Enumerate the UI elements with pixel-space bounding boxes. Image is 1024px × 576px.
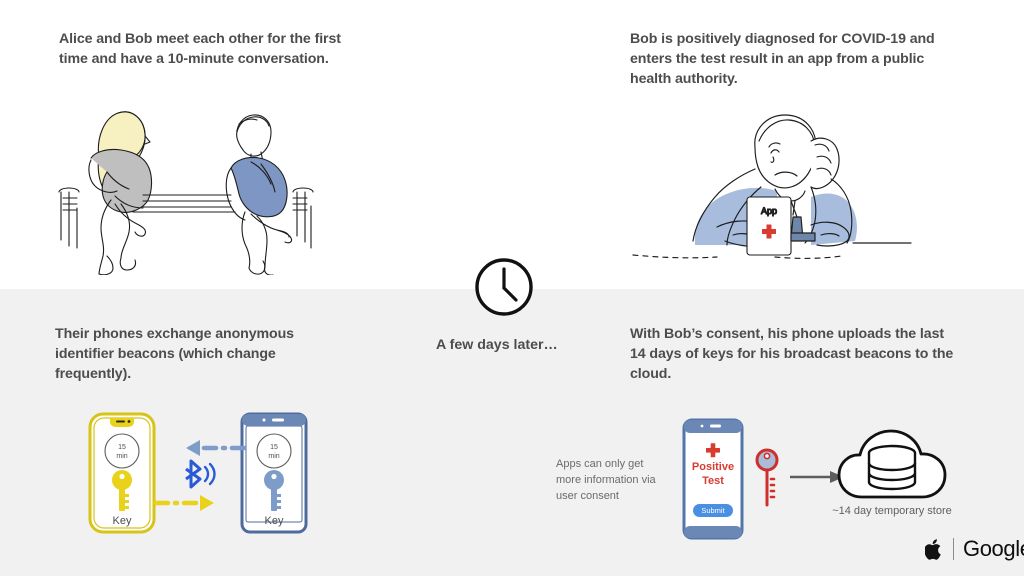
arrow-left-blue	[186, 440, 244, 456]
positive-label-line2: Test	[702, 475, 724, 487]
alice-timer-unit: min	[116, 453, 127, 460]
brand-divider	[953, 538, 954, 560]
bob-timer-value: 15	[270, 444, 278, 451]
panel-bottom-right-headline: With Bob’s consent, his phone uploads th…	[630, 324, 960, 384]
bob-key-label: Key	[265, 515, 284, 527]
panel-bottom-left-headline: Their phones exchange anonymous identifi…	[55, 324, 345, 384]
apple-google-branding: Google	[925, 536, 1024, 562]
infographic-canvas: Alice and Bob meet each other for the fi…	[0, 0, 1024, 576]
apple-logo-icon	[925, 538, 944, 561]
arrow-right-yellow	[156, 495, 214, 511]
positive-test-phone[interactable]: Positive Test Submit	[682, 418, 744, 540]
cloud-store-caption: ~14 day temporary store	[812, 505, 972, 517]
cloud-database-icon	[836, 425, 948, 507]
submit-button-label: Submit	[701, 506, 725, 515]
bluetooth-signal-icon	[186, 461, 215, 487]
panel-top-left-headline: Alice and Bob meet each other for the fi…	[59, 29, 359, 69]
a-few-days-later-label: A few days later…	[436, 337, 576, 353]
google-wordmark: Google	[963, 536, 1024, 562]
red-key-icon	[752, 447, 782, 509]
alice-timer-value: 15	[118, 444, 126, 451]
svg-text:App: App	[761, 206, 777, 216]
alice-phone-beacon[interactable]: 15 min Key	[88, 412, 156, 534]
bob-with-phone-illustration: App	[625, 105, 915, 265]
positive-label-line1: Positive	[692, 461, 734, 473]
beacon-exchange-arrows	[152, 425, 248, 525]
alice-key-label: Key	[113, 515, 132, 527]
bob-phone-beacon[interactable]: 15 min Key	[240, 412, 308, 534]
user-consent-note: Apps can only get more information via u…	[556, 456, 668, 504]
alice-and-bob-on-bench-illustration	[55, 100, 320, 275]
bob-timer-unit: min	[268, 453, 279, 460]
clock-icon	[473, 256, 535, 318]
panel-top-right-headline: Bob is positively diagnosed for COVID-19…	[630, 29, 960, 89]
